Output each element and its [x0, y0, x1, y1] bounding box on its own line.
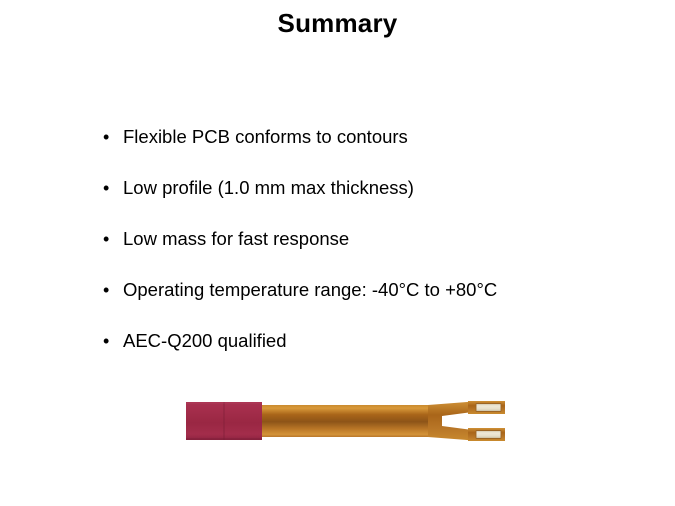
- list-item-label: AEC-Q200 qualified: [123, 328, 287, 354]
- bullet-list: • Flexible PCB conforms to contours • Lo…: [103, 124, 643, 379]
- bullet-marker-icon: •: [103, 226, 123, 252]
- page-title: Summary: [0, 9, 675, 38]
- list-item: • Flexible PCB conforms to contours: [103, 124, 643, 175]
- list-item-label: Flexible PCB conforms to contours: [123, 124, 408, 150]
- list-item-label: Low mass for fast response: [123, 226, 349, 252]
- flexible-pcb-sensor-photo: [180, 390, 505, 450]
- list-item: • Low mass for fast response: [103, 226, 643, 277]
- flexible-pcb-sensor-illustration: [180, 390, 505, 450]
- list-item: • Operating temperature range: -40°C to …: [103, 277, 643, 328]
- list-item: • AEC-Q200 qualified: [103, 328, 643, 379]
- bullet-marker-icon: •: [103, 328, 123, 354]
- list-item-label: Operating temperature range: -40°C to +8…: [123, 277, 497, 303]
- bullet-marker-icon: •: [103, 124, 123, 150]
- bullet-marker-icon: •: [103, 175, 123, 201]
- list-item-label: Low profile (1.0 mm max thickness): [123, 175, 414, 201]
- list-item: • Low profile (1.0 mm max thickness): [103, 175, 643, 226]
- bullet-marker-icon: •: [103, 277, 123, 303]
- slide-summary: Summary • Flexible PCB conforms to conto…: [0, 0, 675, 506]
